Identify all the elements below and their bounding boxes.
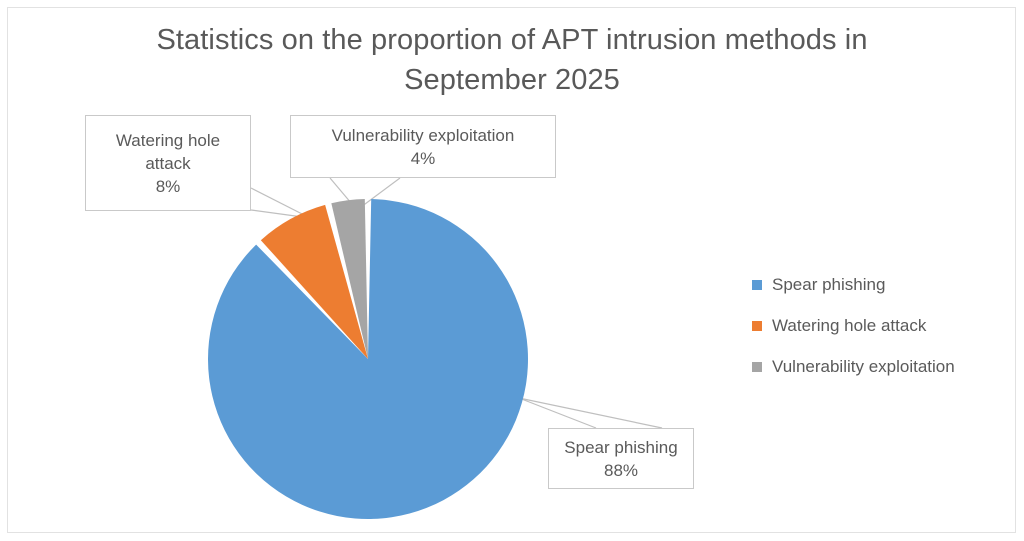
data-label-vulnerability-line1: Vulnerability exploitation [332,124,515,147]
chart-canvas: Statistics on the proportion of APT intr… [0,0,1024,541]
legend-swatch-icon [752,280,762,290]
data-label-spear-phishing-value: 88% [604,459,638,482]
legend-item[interactable]: Vulnerability exploitation [752,346,1012,387]
legend-item-label: Vulnerability exploitation [772,357,955,377]
pie-slice-group [208,199,528,519]
data-label-watering-hole-value: 8% [156,175,181,198]
legend-item[interactable]: Spear phishing [752,264,1012,305]
leader-line-watering-hole [251,188,310,218]
legend-item-label: Watering hole attack [772,316,926,336]
legend-swatch-icon [752,321,762,331]
data-label-vulnerability: Vulnerability exploitation 4% [290,115,556,178]
legend-swatch-icon [752,362,762,372]
leader-line-spear-phishing [519,398,662,428]
legend-item-label: Spear phishing [772,275,885,295]
data-label-spear-phishing: Spear phishing 88% [548,428,694,489]
chart-legend: Spear phishingWatering hole attackVulner… [752,264,1012,387]
data-label-watering-hole-line1: Watering hole [116,129,220,152]
data-label-watering-hole: Watering hole attack 8% [85,115,251,211]
data-label-watering-hole-line2: attack [145,152,190,175]
pie-slice[interactable] [208,199,528,519]
legend-item[interactable]: Watering hole attack [752,305,1012,346]
data-label-vulnerability-value: 4% [411,147,436,170]
data-label-spear-phishing-line1: Spear phishing [564,436,677,459]
